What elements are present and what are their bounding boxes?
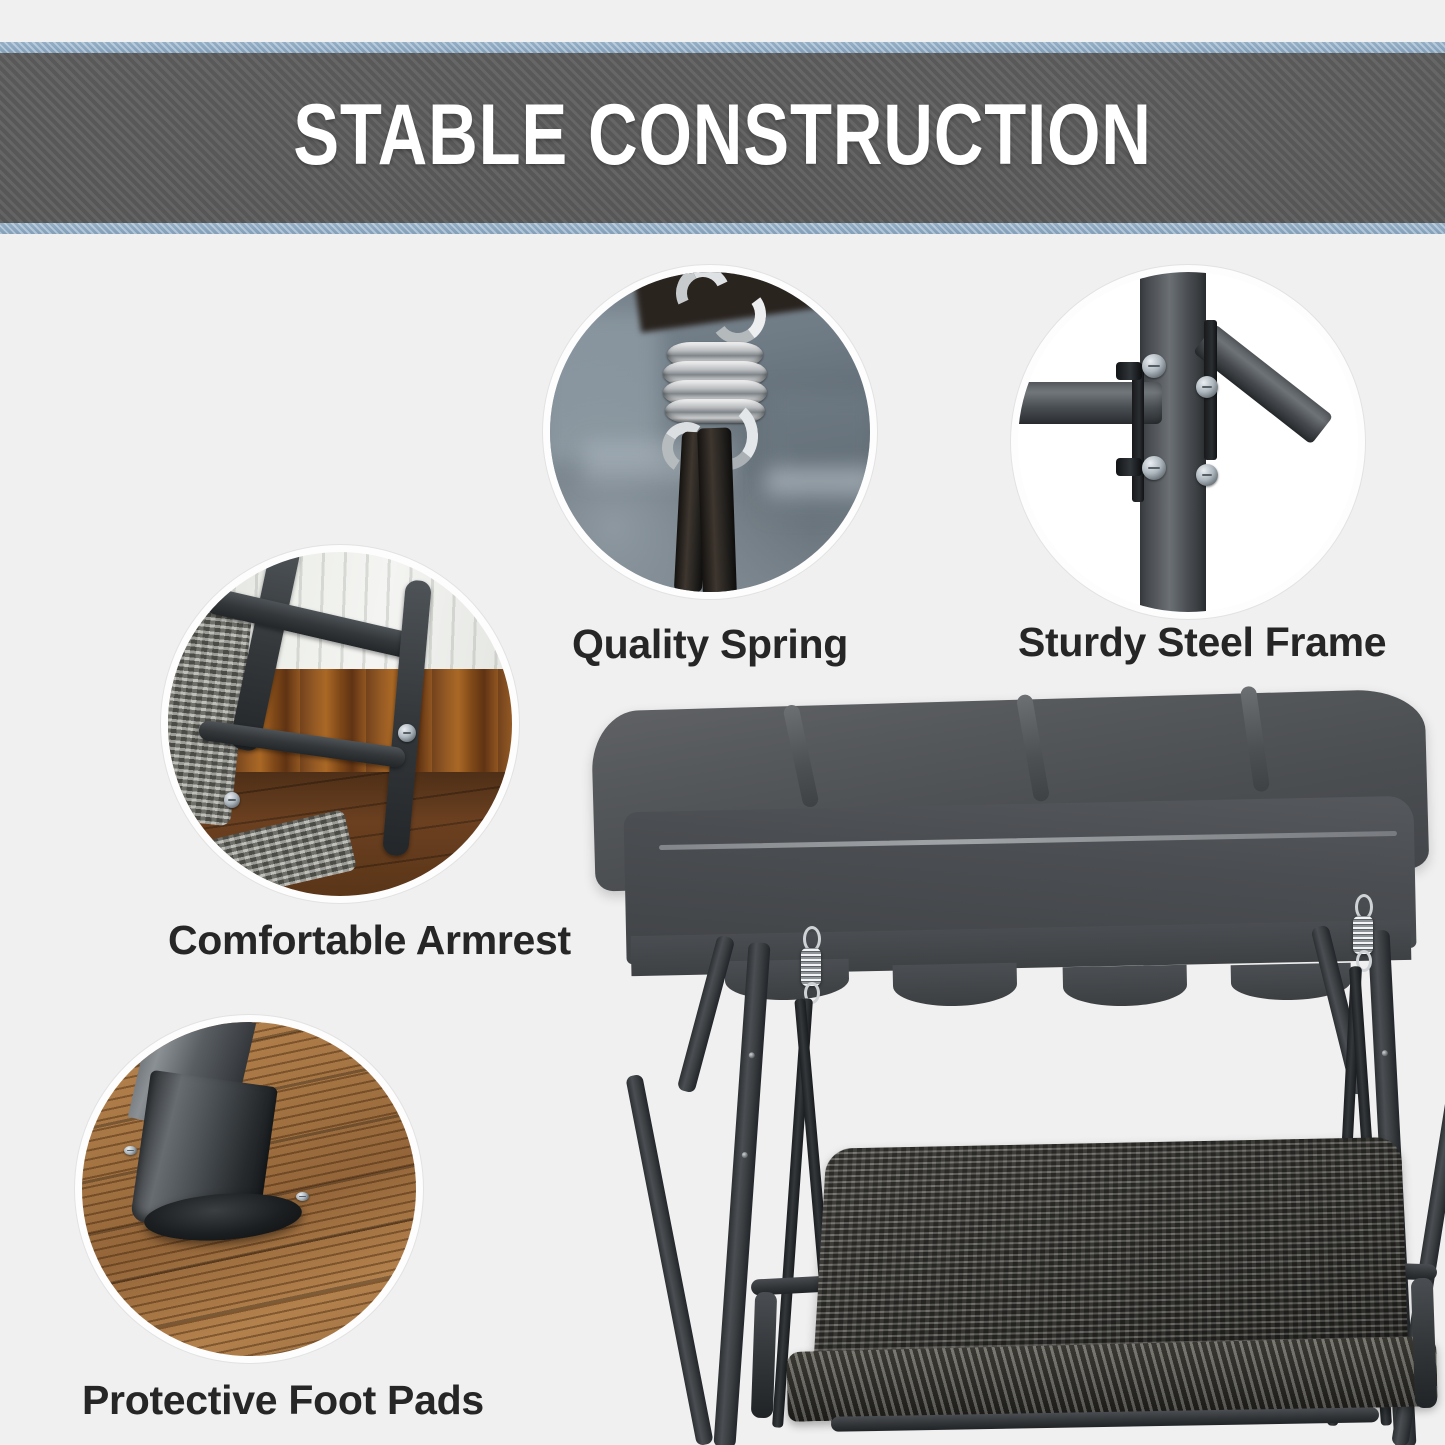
bolt-head [1196,376,1218,398]
feature-image-quality-spring [550,272,870,592]
header-banner: STABLE CONSTRUCTION [0,42,1445,234]
canopy-scallop [725,959,850,1002]
canopy-scallop [893,963,1018,1008]
feature-label-quality-spring: Quality Spring [550,624,870,665]
product-photo-swing [575,672,1445,1445]
bracket-plate-left [1132,364,1144,502]
armrest-right-post [1411,1278,1438,1409]
feature-label-sturdy-steel-frame: Sturdy Steel Frame [1018,622,1358,663]
banner-accent-strip-bottom [0,223,1445,234]
screw [742,1152,748,1158]
deck-screw [124,1146,137,1155]
infographic-page: STABLE CONSTRUCTION [0,0,1445,1445]
feature-label-protective-foot-pads: Protective Foot Pads [82,1380,416,1421]
bolt-end-cap [1116,362,1142,380]
bolt-head [1196,464,1218,486]
bolt-head [224,792,240,808]
armrest-left-post [751,1292,777,1419]
canopy-spring [801,948,821,986]
deck-screw [296,1192,309,1201]
hanging-strap [697,427,737,592]
banner-accent-strip-top [0,42,1445,53]
bolt-head [1142,354,1166,378]
frame-leg-left-rear [625,1074,713,1445]
background-pane [766,468,870,494]
page-title: STABLE CONSTRUCTION [145,53,1301,223]
feature-image-comfortable-armrest [168,552,512,896]
background-pane [766,392,870,512]
screw [1382,1050,1388,1056]
armrest-photo-scene [168,552,512,896]
feature-image-sturdy-steel-frame [1018,272,1358,612]
bolt-head [398,724,416,742]
bolt-end-cap [1116,458,1142,476]
bolt-head [1142,456,1166,480]
footpad-photo-scene [82,1022,416,1356]
screw [749,1052,755,1058]
frame-photo-scene [1018,272,1358,612]
background-pane [550,312,660,462]
vertical-steel-post [1140,272,1206,612]
feature-image-protective-foot-pads [82,1022,416,1356]
spring-photo-scene [550,272,870,592]
canopy-spring [1353,916,1373,954]
feature-label-comfortable-armrest: Comfortable Armrest [168,920,512,961]
canopy-scallop [1063,965,1188,1008]
banner-body: STABLE CONSTRUCTION [0,53,1445,223]
